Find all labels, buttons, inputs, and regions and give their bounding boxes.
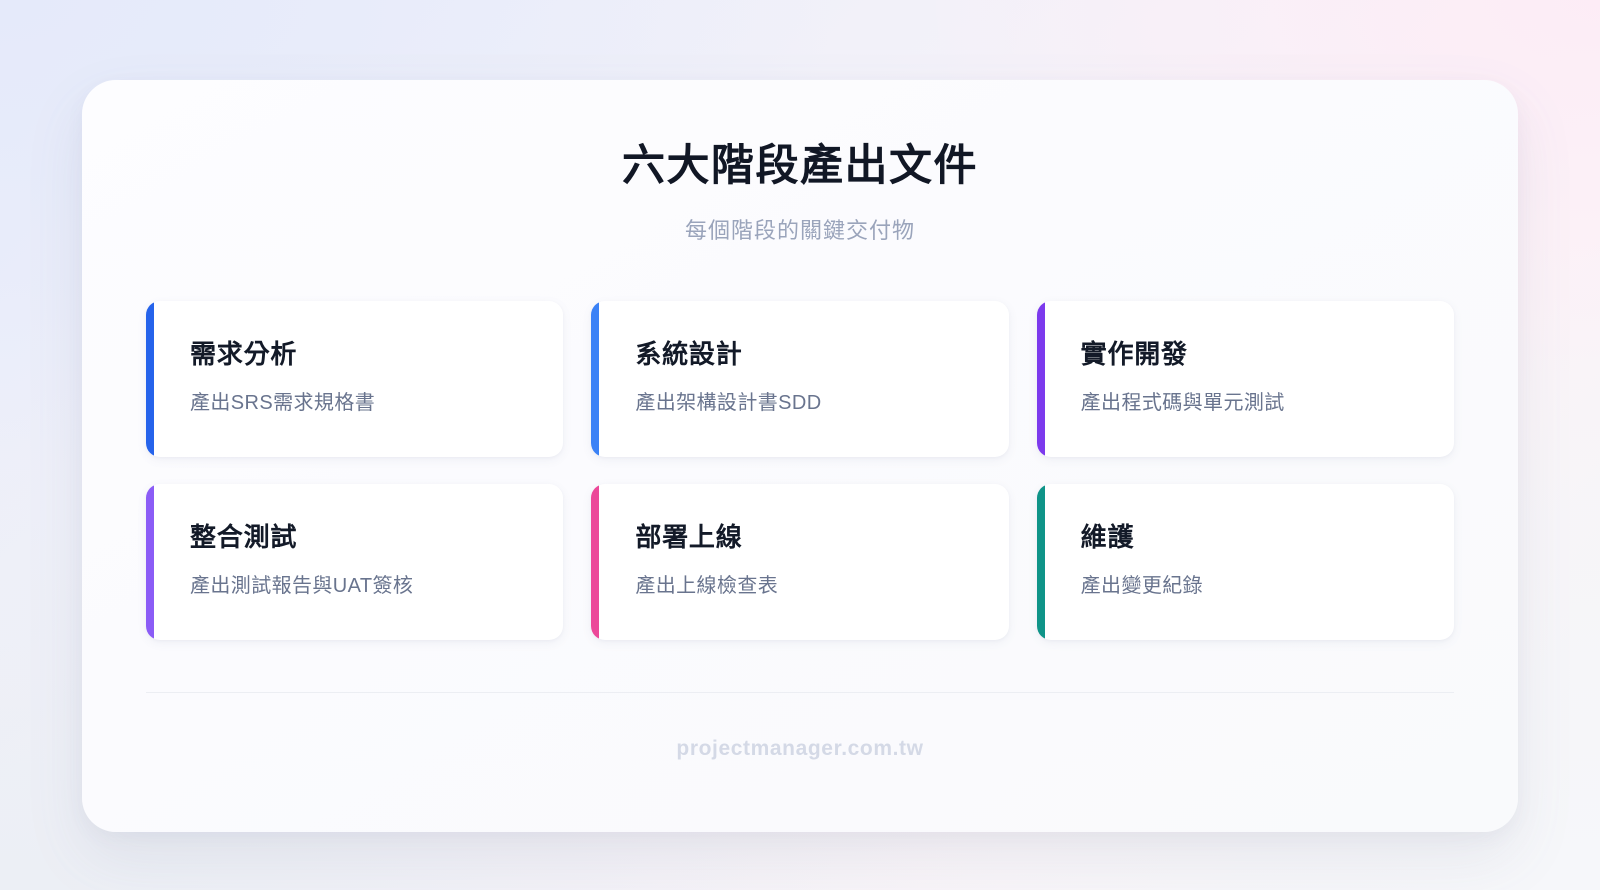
accent-bar	[1037, 484, 1045, 640]
accent-bar	[146, 301, 154, 457]
stage-card-description: 產出上線檢查表	[635, 574, 1008, 599]
stage-card-description: 產出變更紀錄	[1081, 574, 1454, 599]
stage-card-title: 部署上線	[635, 522, 1008, 553]
stage-card-description: 產出架構設計書SDD	[635, 391, 1008, 416]
stage-card[interactable]: 系統設計 產出架構設計書SDD	[591, 301, 1008, 457]
accent-bar	[1037, 301, 1045, 457]
stage-card-description: 產出SRS需求規格書	[190, 391, 563, 416]
stage-card-title: 系統設計	[635, 339, 1008, 370]
stage-card[interactable]: 部署上線 產出上線檢查表	[591, 484, 1008, 640]
stage-cards-grid: 需求分析 產出SRS需求規格書 系統設計 產出架構設計書SDD 實作開發 產出程…	[146, 301, 1454, 640]
stage-card-title: 實作開發	[1081, 339, 1454, 370]
stage-card-title: 維護	[1081, 522, 1454, 553]
panel-header: 六大階段產出文件 每個階段的關鍵交付物	[82, 80, 1518, 245]
accent-bar	[591, 484, 599, 640]
stage-card-description: 產出程式碼與單元測試	[1081, 391, 1454, 416]
stage-card[interactable]: 需求分析 產出SRS需求規格書	[146, 301, 563, 457]
accent-bar	[146, 484, 154, 640]
panel-footer: projectmanager.com.tw	[82, 693, 1518, 761]
content-panel: 六大階段產出文件 每個階段的關鍵交付物 需求分析 產出SRS需求規格書 系統設計…	[82, 80, 1518, 832]
stage-card-description: 產出測試報告與UAT簽核	[190, 574, 563, 599]
stage-card[interactable]: 實作開發 產出程式碼與單元測試	[1037, 301, 1454, 457]
page-subtitle: 每個階段的關鍵交付物	[82, 213, 1518, 245]
stage-card-title: 整合測試	[190, 522, 563, 553]
stage-card[interactable]: 整合測試 產出測試報告與UAT簽核	[146, 484, 563, 640]
accent-bar	[591, 301, 599, 457]
stage-card[interactable]: 維護 產出變更紀錄	[1037, 484, 1454, 640]
page-title: 六大階段產出文件	[82, 142, 1518, 191]
stage-card-title: 需求分析	[190, 339, 563, 370]
footer-brand: projectmanager.com.tw	[82, 737, 1518, 761]
